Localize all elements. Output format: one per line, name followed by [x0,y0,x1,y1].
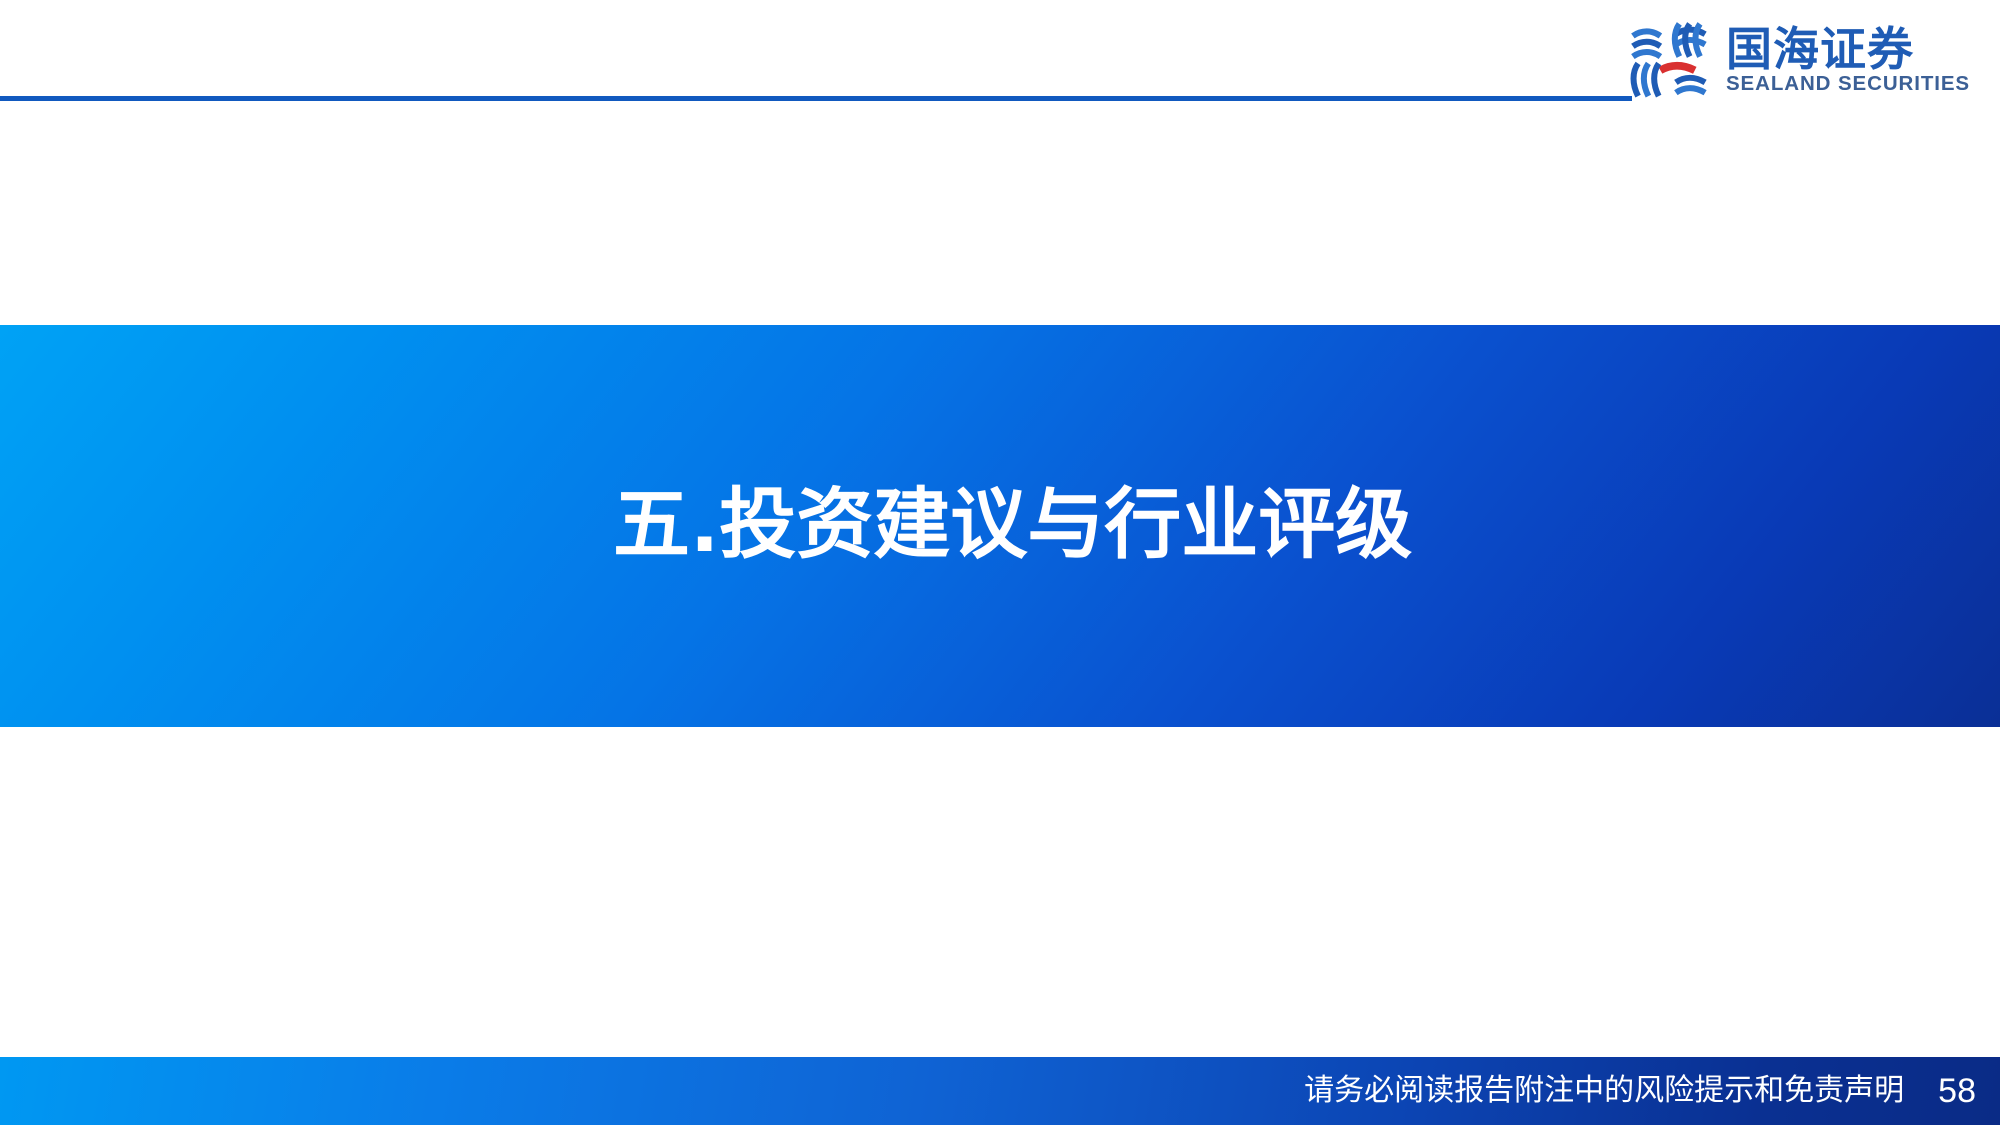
section-title: 五.投资建议与行业评级 [613,486,1412,567]
slide-root: 国海证券 SEALAND SECURITIES 五.投资建议与行业评级 请务必阅… [0,0,2000,1125]
logo-english-name: SEALAND SECURITIES [1726,74,1970,95]
section-banner: 五.投资建议与行业评级 [0,325,2000,727]
header-divider-rule [0,96,1632,101]
logo-chinese-name: 国海证券 [1726,26,1970,72]
footer-bar: 请务必阅读报告附注中的风险提示和免责声明 58 [0,1057,2000,1125]
logo-wordmark: 国海证券 SEALAND SECURITIES [1726,26,1970,95]
company-logo: 国海证券 SEALAND SECURITIES [1626,14,1970,106]
footer-disclaimer: 请务必阅读报告附注中的风险提示和免责声明 [1304,1076,1904,1106]
page-number: 58 [1938,1074,1976,1108]
sealand-weave-emblem-icon [1626,17,1712,103]
